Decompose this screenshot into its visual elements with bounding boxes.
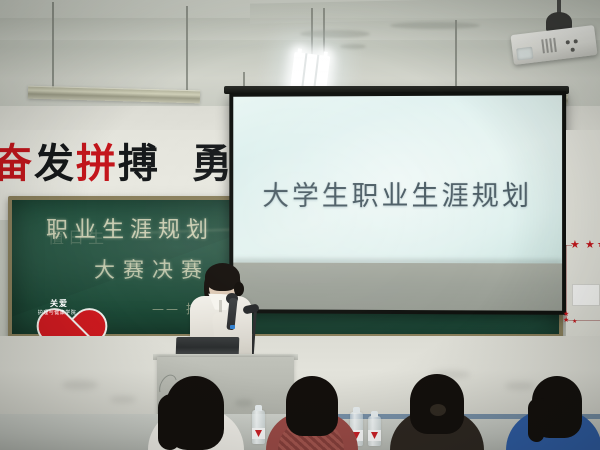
ceiling-stain	[390, 22, 480, 29]
light-rod	[186, 6, 188, 92]
projector-lens	[516, 47, 533, 61]
projection-screen: 大学生职业生涯规划	[233, 95, 562, 311]
water-bottle	[368, 416, 381, 446]
screen-unlit-area	[233, 262, 562, 310]
light-rod	[455, 20, 457, 94]
bulletin-note	[572, 284, 600, 306]
ceiling-stain	[340, 44, 366, 49]
audience-member-2	[262, 376, 360, 450]
star-icon: ★	[572, 318, 577, 325]
light-rod	[52, 2, 54, 90]
heart-decal-top-text: 关爱	[39, 298, 79, 309]
light-rod	[311, 8, 313, 56]
audience-member-4	[506, 374, 600, 450]
slide-title: 大学生职业生涯规划	[233, 174, 562, 213]
audience-hair-clip	[430, 404, 446, 416]
audience-member-1	[140, 372, 250, 450]
microphone-led	[230, 325, 235, 329]
banner-char-2: 发	[34, 141, 76, 187]
star-icon: ★	[585, 238, 595, 251]
audience-hair	[286, 376, 338, 436]
banner-char-1: 奋	[0, 141, 34, 187]
light-rod	[323, 8, 325, 56]
heart-decal: 关爱 护理与健康学院	[24, 286, 86, 332]
projection-screen-frame: 大学生职业生涯规划	[229, 91, 566, 315]
classroom-photo-scene: 奋发拼搏 勇于开拓 责 值日生 职业生涯规划 大赛决赛 —— 护理6班 关爱 护…	[0, 0, 600, 450]
audience-hair	[158, 394, 180, 450]
audience-member-3	[388, 374, 486, 450]
banner-char-4: 搏	[118, 141, 160, 187]
heart-decal-bottom-text: 护理与健康学院	[32, 309, 82, 316]
star-icon: ★	[563, 316, 569, 324]
audience-hair	[528, 398, 544, 442]
banner-char-3: 拼	[76, 141, 118, 187]
